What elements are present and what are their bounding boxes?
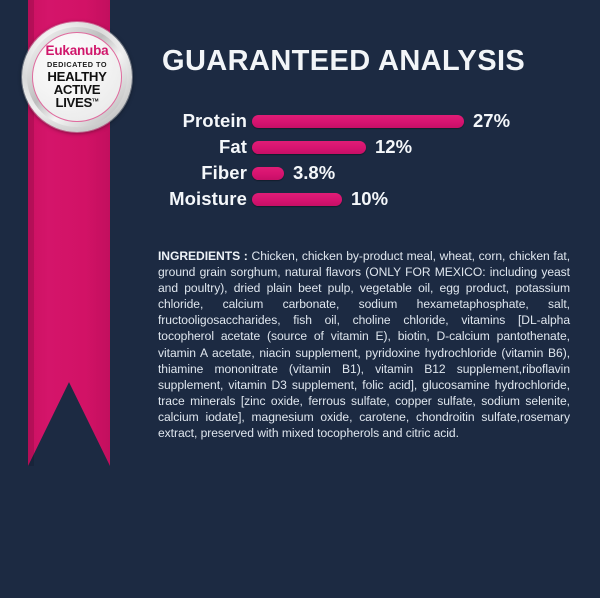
chart-row-bar [252, 193, 342, 206]
chart-row-bar [252, 115, 464, 128]
badge-dedicated-text: DEDICATED TO [47, 61, 107, 68]
chart-row-track: 3.8% [252, 164, 335, 183]
chart-row-bar [252, 141, 366, 154]
ingredients-paragraph: INGREDIENTS : Chicken, chicken by-produc… [158, 248, 570, 441]
ingredients-body: Chicken, chicken by-product meal, wheat,… [158, 249, 570, 440]
trademark-symbol: TM [92, 97, 99, 102]
chart-row-track: 10% [252, 190, 388, 209]
chart-row-value: 12% [375, 138, 412, 157]
chart-row: Moisture 10% [160, 186, 570, 212]
label-panel: Eukanuba DEDICATED TO HEALTHY ACTIVE LIV… [0, 0, 600, 598]
chart-row-value: 3.8% [293, 164, 335, 183]
badge-claim-text: HEALTHY ACTIVE LIVESTM [47, 71, 106, 109]
badge-claim-line-3: LIVESTM [47, 97, 106, 110]
chart-row: Fat 12% [160, 134, 570, 160]
badge-inner-disc: Eukanuba DEDICATED TO HEALTHY ACTIVE LIV… [32, 32, 122, 122]
chart-row-label: Fat [160, 138, 252, 157]
chart-row-value: 27% [473, 112, 510, 131]
chart-row-track: 27% [252, 112, 510, 131]
ingredients-heading: INGREDIENTS : [158, 249, 248, 263]
badge-brand-name: Eukanuba [46, 44, 109, 58]
chart-row-label: Moisture [160, 190, 252, 209]
eukanuba-seal-badge: Eukanuba DEDICATED TO HEALTHY ACTIVE LIV… [22, 22, 132, 132]
chart-row-label: Fiber [160, 164, 252, 183]
chart-row-bar [252, 167, 284, 180]
badge-claim-line-3-text: LIVES [55, 95, 92, 110]
chart-row: Protein 27% [160, 108, 570, 134]
chart-row: Fiber 3.8% [160, 160, 570, 186]
page-title: GUARANTEED ANALYSIS [162, 47, 525, 76]
chart-row-label: Protein [160, 112, 252, 131]
chart-row-value: 10% [351, 190, 388, 209]
chart-row-track: 12% [252, 138, 412, 157]
guaranteed-analysis-chart: Protein 27% Fat 12% Fiber 3.8% Moisture [160, 108, 570, 212]
